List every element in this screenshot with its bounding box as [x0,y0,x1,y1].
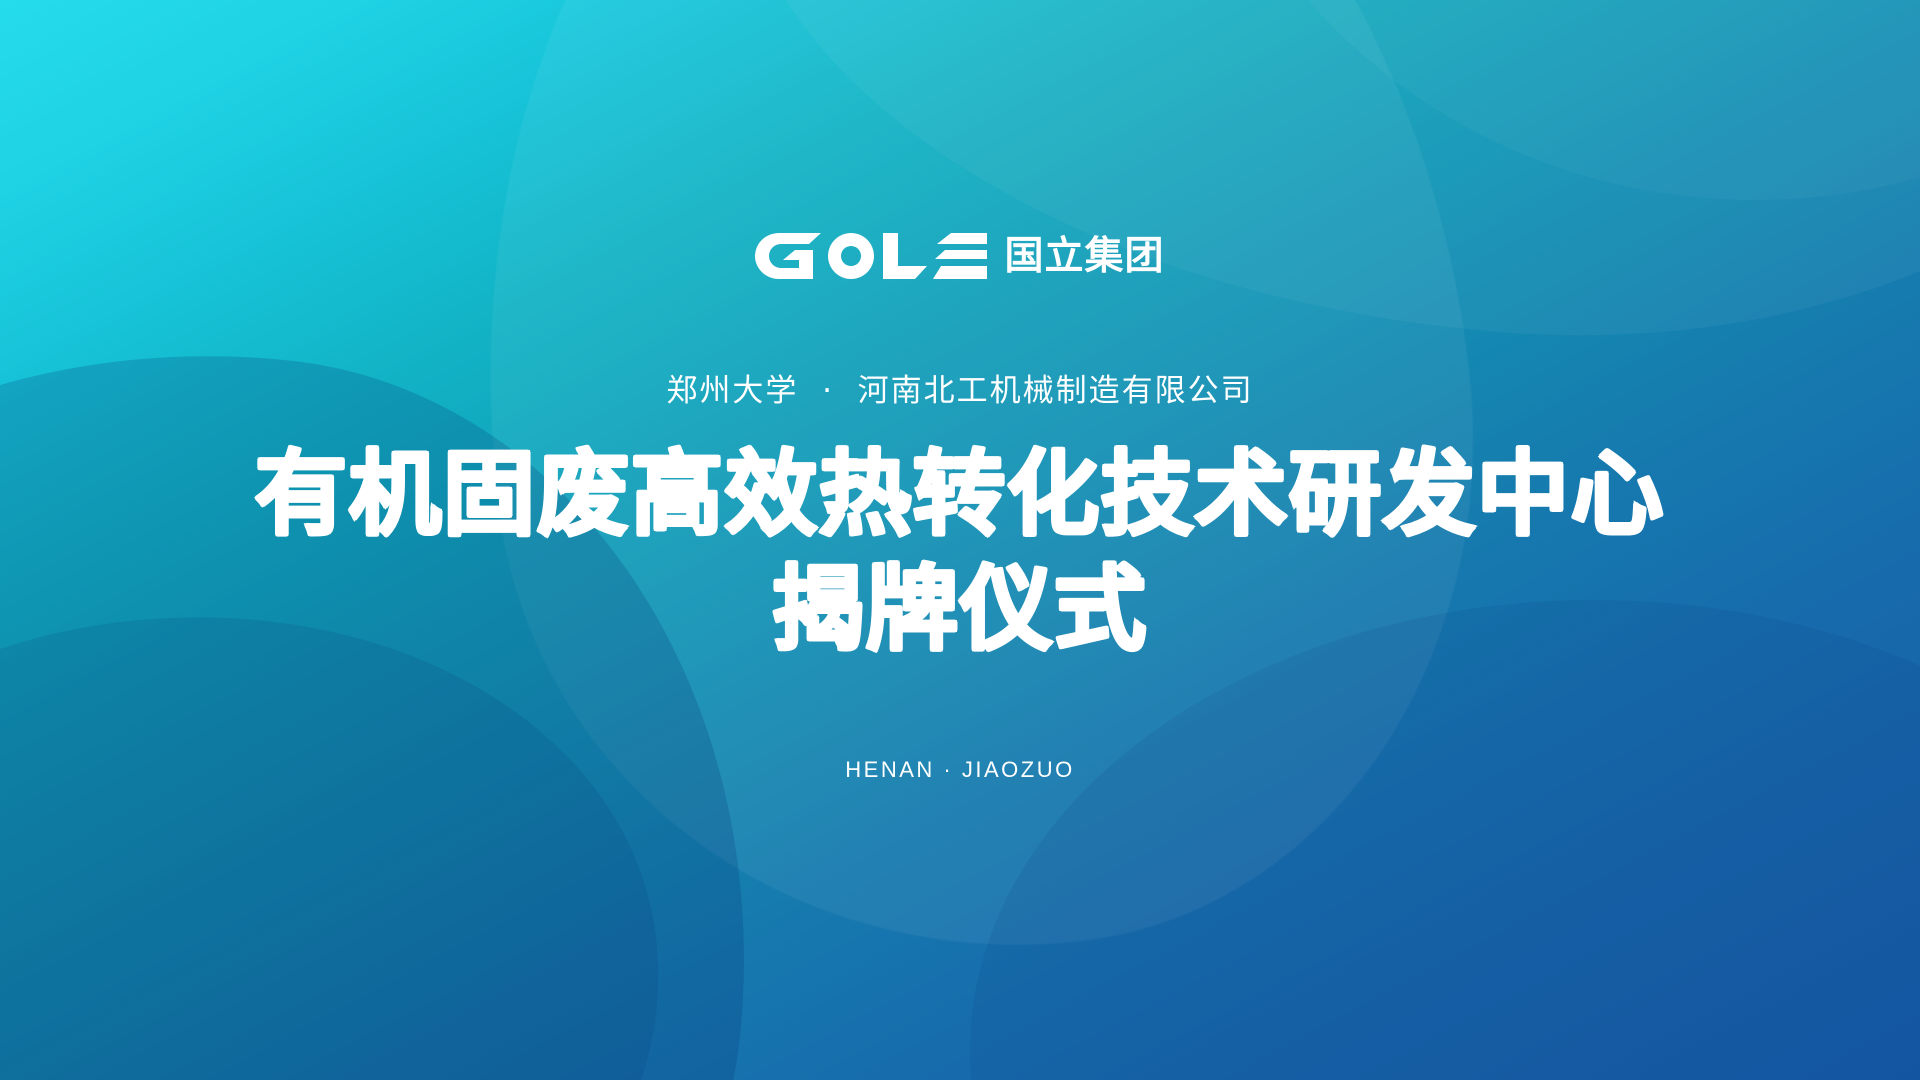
subtitle: 郑州大学 · 河南北工机械制造有限公司 [666,376,1253,407]
slide-content: 国立集团 郑州大学 · 河南北工机械制造有限公司 有机固废高效热转化技术研发中心… [0,0,1920,1080]
title-line-2: 揭牌仪式 [255,556,1665,665]
banner-slide: 国立集团 郑州大学 · 河南北工机械制造有限公司 有机固废高效热转化技术研发中心… [0,0,1920,1080]
title-line-1: 有机固废高效热转化技术研发中心 [255,441,1665,550]
gole-logo-mark [755,233,987,279]
page-title: 有机固废高效热转化技术研发中心 揭牌仪式 [255,441,1665,664]
brand-logo-cn: 国立集团 [1004,237,1164,276]
brand-logo: 国立集团 [755,233,1164,279]
footer-location: HENAN · JIAOZUO [845,759,1074,781]
